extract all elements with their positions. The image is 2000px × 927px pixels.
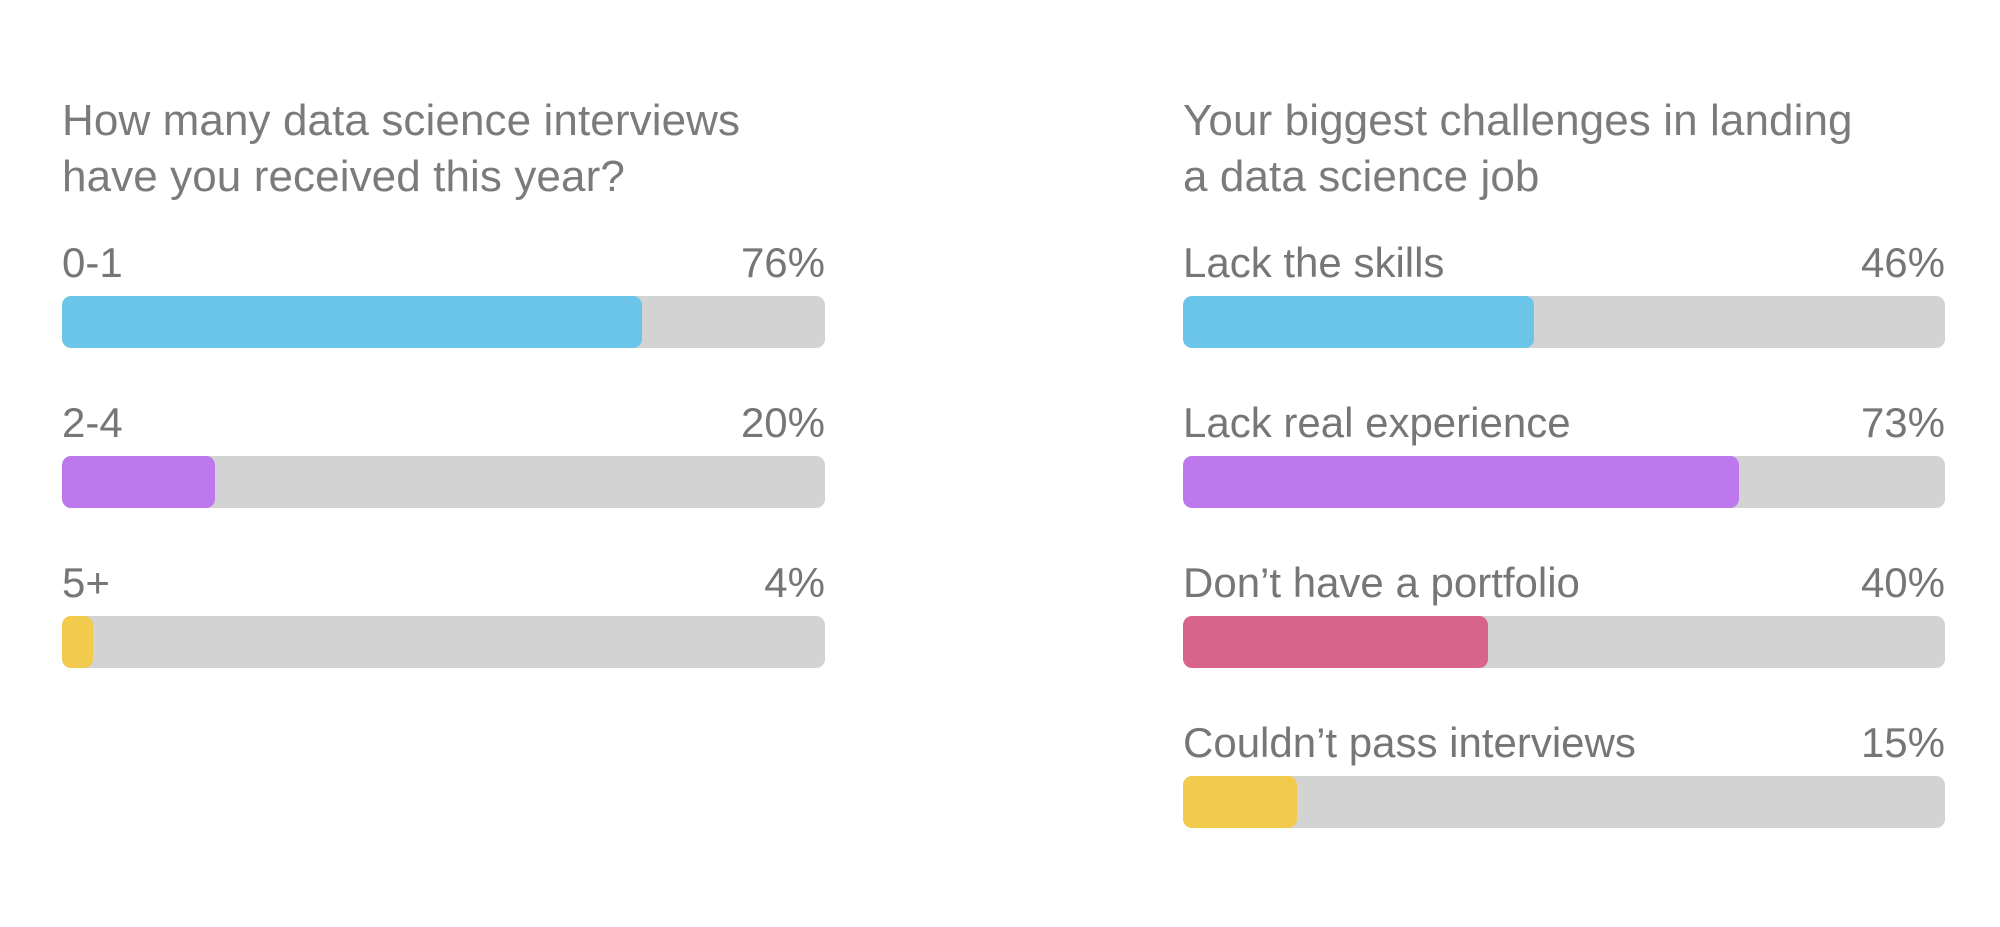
page-title: Your biggest challenges in landing a dat… xyxy=(1183,93,1983,206)
bar-header: Lack real experience 73% xyxy=(1183,396,1945,456)
bar-track xyxy=(1183,616,1945,668)
bar-value: 73% xyxy=(1861,396,1945,450)
page-title: How many data science interviews have yo… xyxy=(62,93,882,206)
bar-value: 20% xyxy=(741,396,825,450)
bar-track xyxy=(62,296,825,348)
bar-value: 46% xyxy=(1861,236,1945,290)
bar-fill xyxy=(62,616,93,668)
bar-row: 2-4 20% xyxy=(62,396,825,556)
bar-fill xyxy=(1183,456,1739,508)
bar-track xyxy=(1183,776,1945,828)
bar-value: 40% xyxy=(1861,556,1945,610)
bar-track xyxy=(1183,456,1945,508)
survey-results-board: How many data science interviews have yo… xyxy=(0,0,2000,927)
bar-row: Lack real experience 73% xyxy=(1183,396,1945,556)
bar-fill xyxy=(1183,616,1488,668)
panel-biggest-challenges: Your biggest challenges in landing a dat… xyxy=(1183,0,1945,927)
bar-label: Lack the skills xyxy=(1183,236,1444,290)
bar-header: Couldn’t pass interviews 15% xyxy=(1183,716,1945,776)
bar-header: 2-4 20% xyxy=(62,396,825,456)
bar-label: Couldn’t pass interviews xyxy=(1183,716,1636,770)
bar-label: 0-1 xyxy=(62,236,123,290)
bar-header: Don’t have a portfolio 40% xyxy=(1183,556,1945,616)
bar-track xyxy=(1183,296,1945,348)
bar-fill xyxy=(62,456,215,508)
bar-label: Lack real experience xyxy=(1183,396,1571,450)
bar-value: 4% xyxy=(764,556,825,610)
bar-row: 0-1 76% xyxy=(62,236,825,396)
bar-value: 15% xyxy=(1861,716,1945,770)
bar-row: Couldn’t pass interviews 15% xyxy=(1183,716,1945,876)
bar-list-challenges: Lack the skills 46% Lack real experience… xyxy=(1183,236,1945,876)
bar-track xyxy=(62,616,825,668)
bar-label: 2-4 xyxy=(62,396,123,450)
bar-fill xyxy=(1183,296,1534,348)
bar-label: Don’t have a portfolio xyxy=(1183,556,1580,610)
bar-label: 5+ xyxy=(62,556,110,610)
bar-fill xyxy=(1183,776,1297,828)
bar-row: Don’t have a portfolio 40% xyxy=(1183,556,1945,716)
bar-row: Lack the skills 46% xyxy=(1183,236,1945,396)
bar-list-interviews: 0-1 76% 2-4 20% 5+ 4% xyxy=(62,236,825,716)
bar-track xyxy=(62,456,825,508)
panel-interviews-received: How many data science interviews have yo… xyxy=(62,0,825,927)
bar-header: Lack the skills 46% xyxy=(1183,236,1945,296)
bar-header: 0-1 76% xyxy=(62,236,825,296)
bar-value: 76% xyxy=(741,236,825,290)
bar-row: 5+ 4% xyxy=(62,556,825,716)
bar-fill xyxy=(62,296,642,348)
bar-header: 5+ 4% xyxy=(62,556,825,616)
